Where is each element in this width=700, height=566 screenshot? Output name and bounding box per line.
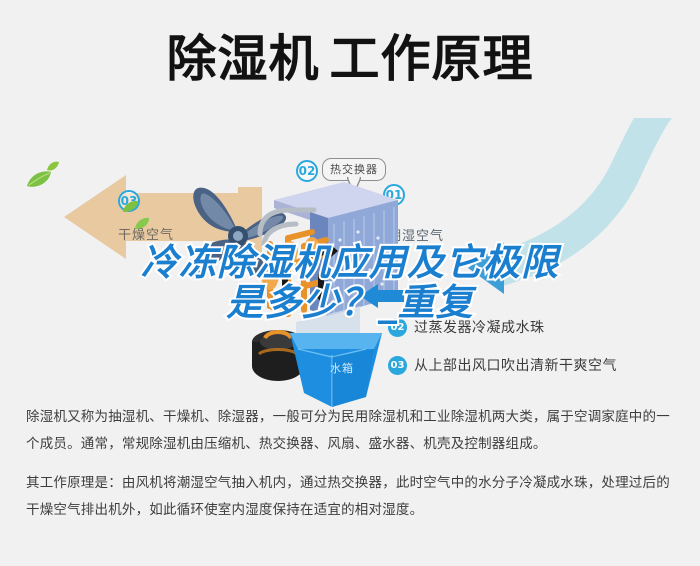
water-tank-label: 水箱: [330, 360, 354, 376]
step-list: 02 过蒸发器冷凝成水珠 03 从上部出风口吹出清新干爽空气: [388, 308, 693, 384]
step-text: 过蒸发器冷凝成水珠: [414, 317, 545, 337]
humid-air-arrow: [372, 118, 672, 318]
page-title-part1: 除湿机: [167, 30, 320, 88]
step-badge: 03: [388, 356, 407, 375]
page-title: 除湿机工作原理: [167, 34, 534, 84]
article-body: 除湿机又称为抽湿机、干燥机、除湿器，一般可分为民用除湿机和工业除湿机两大类，属于…: [0, 404, 700, 536]
leaf-icon-arrow-lower: [134, 215, 150, 234]
page-title-bar: 除湿机工作原理: [0, 0, 700, 118]
dehumidifier-diagram: 干燥空气 潮湿空气 03 01 02 热交换器: [0, 112, 700, 402]
step-text: 从上部出风口吹出清新干爽空气: [414, 355, 617, 375]
step-item: 02 过蒸发器冷凝成水珠: [388, 308, 693, 346]
body-paragraph-2: 其工作原理是：由风机将潮湿空气抽入机内，通过热交换器，此时空气中的水分子冷凝成水…: [26, 470, 674, 524]
step-item: 03 从上部出风口吹出清新干爽空气: [388, 346, 693, 384]
step-badge: 02: [388, 318, 407, 337]
page-title-part2: 工作原理: [330, 30, 534, 88]
infographic-page: 除湿机工作原理 干燥空气 潮湿空气 03 01 02 热交换器: [0, 0, 700, 566]
body-paragraph-1: 除湿机又称为抽湿机、干燥机、除湿器，一般可分为民用除湿机和工业除湿机两大类，属于…: [26, 404, 674, 458]
leaf-icon-medium: [26, 170, 52, 192]
